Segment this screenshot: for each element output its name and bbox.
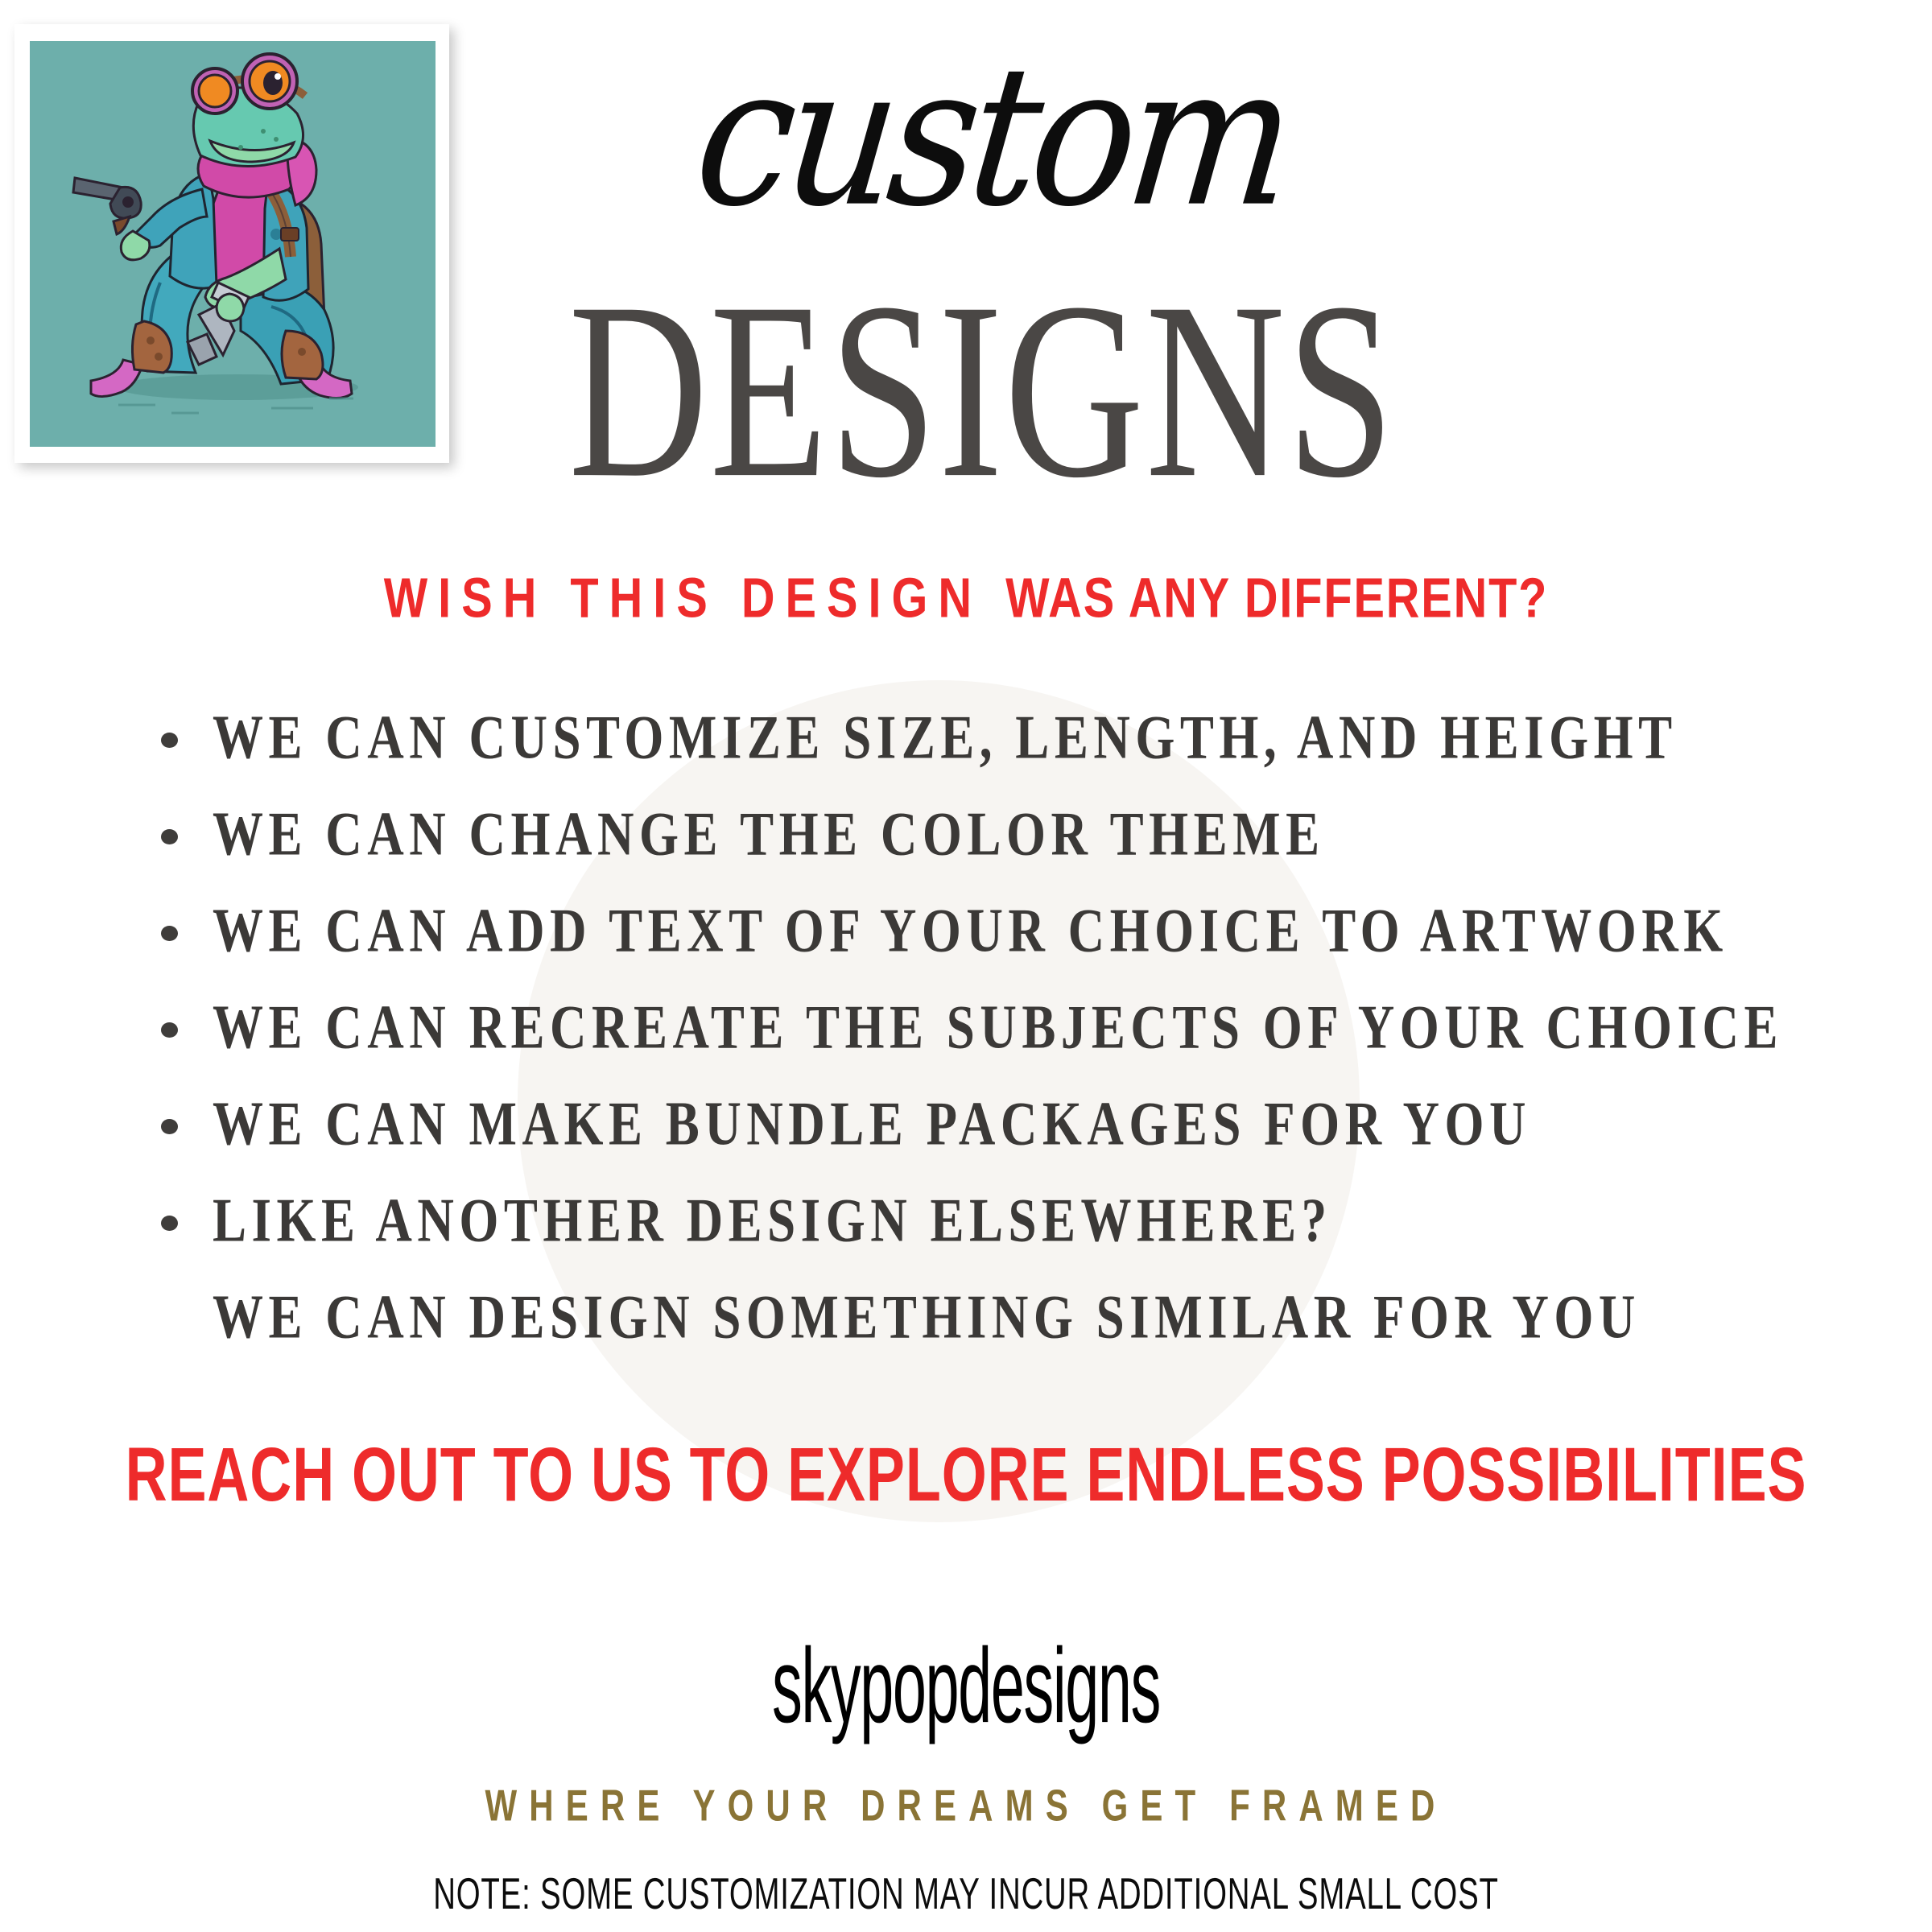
bullet-icon — [161, 733, 188, 748]
feature-label: WE CAN CHANGE THE COLOR THEME — [213, 799, 1325, 870]
frog-illustration — [30, 41, 436, 447]
feature-label: WE CAN MAKE BUNDLE PACKAGES FOR YOU — [213, 1088, 1531, 1160]
brand-tagline: WHERE YOUR DREAMS GET FRAMED — [155, 1784, 1777, 1828]
bullet-icon — [161, 1022, 188, 1038]
subheadline-part-b: WAS ANY DIFFERENT? — [1005, 568, 1548, 630]
artwork-image[interactable] — [30, 41, 436, 447]
artwork-frame[interactable] — [14, 24, 449, 463]
feature-item: LIKE ANOTHER DESIGN ELSEWHERE? — [0, 1191, 1932, 1288]
bullet-icon — [161, 829, 188, 844]
feature-label: WE CAN RECREATE THE SUBJECTS OF YOUR CHO… — [213, 992, 1783, 1063]
features-list: WE CAN CUSTOMIZE SIZE, LENGTH, AND HEIGH… — [0, 708, 1932, 1385]
brand-tagline-text: WHERE YOUR DREAMS GET FRAMED — [485, 1781, 1447, 1831]
feature-label: LIKE ANOTHER DESIGN ELSEWHERE? — [213, 1185, 1332, 1257]
footer-note: NOTE: SOME CUSTOMIZATION MAY INCUR ADDIT… — [193, 1873, 1739, 1918]
headline-block: custom DESIGNS — [451, 48, 1513, 489]
feature-item: WE CAN CUSTOMIZE SIZE, LENGTH, AND HEIGH… — [0, 708, 1932, 805]
feature-item: WE CAN MAKE BUNDLE PACKAGES FOR YOU — [0, 1095, 1932, 1191]
subheadline-part-a: WISH THIS DESIGN — [384, 568, 1005, 630]
feature-label: WE CAN CUSTOMIZE SIZE, LENGTH, AND HEIGH… — [213, 702, 1678, 774]
feature-label: WE CAN ADD TEXT OF YOUR CHOICE TO ARTWOR… — [213, 895, 1728, 967]
footer-block: skypopdesigns WHERE YOUR DREAMS GET FRAM… — [0, 1642, 1932, 1914]
page-title: DESIGNS — [461, 264, 1503, 517]
headline-script-word: custom — [451, 44, 1533, 229]
bullet-icon — [161, 1119, 188, 1134]
feature-item: WE CAN DESIGN SOMETHING SIMILAR FOR YOU — [0, 1288, 1932, 1385]
feature-item: WE CAN ADD TEXT OF YOUR CHOICE TO ARTWOR… — [0, 902, 1932, 998]
subheadline-question: WISH THIS DESIGN WAS ANY DIFFERENT? — [68, 567, 1864, 631]
bullet-icon — [161, 1216, 188, 1231]
cta-text: REACH OUT TO US TO EXPLORE ENDLESS POSSI… — [97, 1431, 1835, 1519]
feature-item: WE CAN CHANGE THE COLOR THEME — [0, 805, 1932, 902]
brand-name: skypopdesigns — [290, 1633, 1642, 1739]
feature-item: WE CAN RECREATE THE SUBJECTS OF YOUR CHO… — [0, 998, 1932, 1095]
bullet-icon — [161, 926, 188, 941]
feature-label: WE CAN DESIGN SOMETHING SIMILAR FOR YOU — [213, 1282, 1641, 1353]
